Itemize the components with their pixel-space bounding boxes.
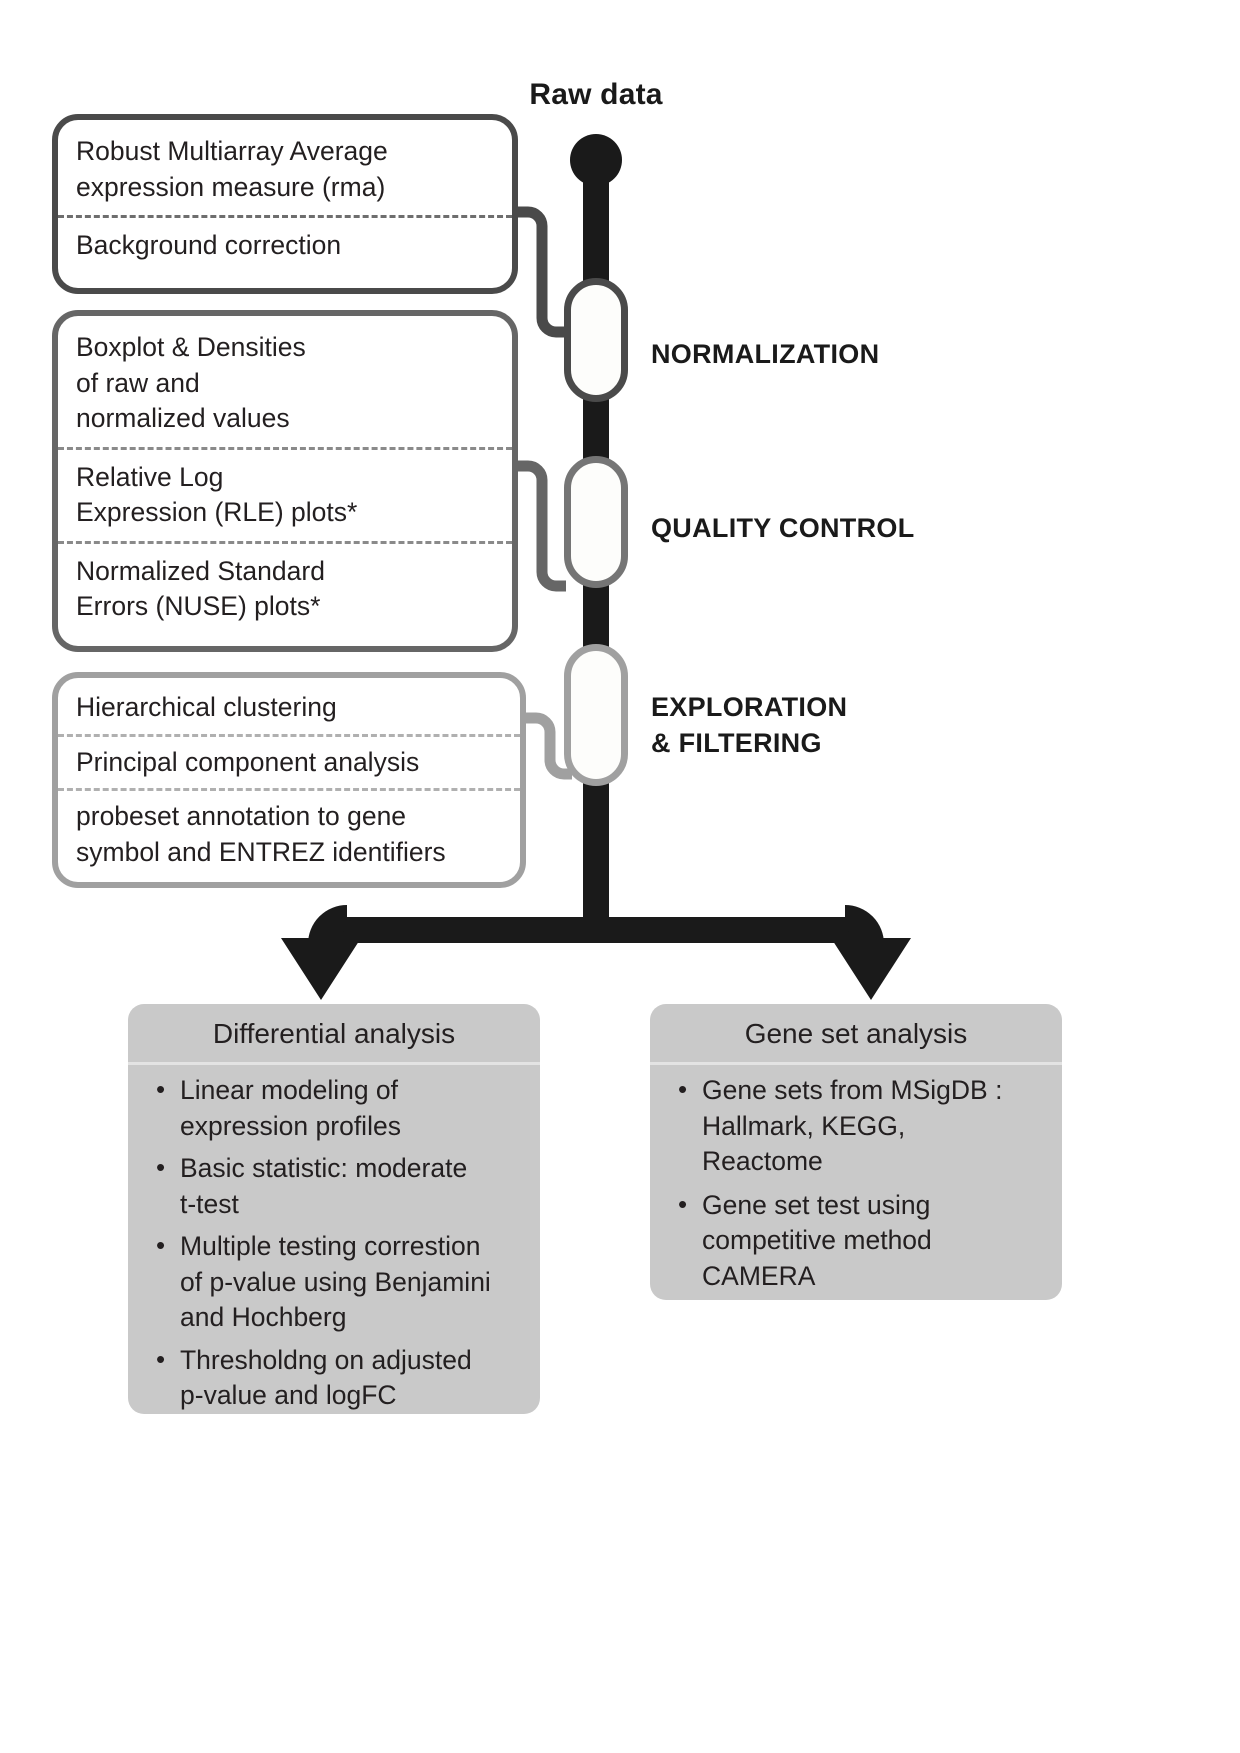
stage-label-normalization: NORMALIZATION <box>651 337 879 373</box>
stage-item-nuse-plots: Normalized Standard Errors (NUSE) plots* <box>58 541 512 635</box>
stage-item-probeset-annotation: probeset annotation to gene symbol and E… <box>58 788 520 878</box>
connector-normalization <box>518 212 566 332</box>
arrow-head-geneset <box>831 938 911 1000</box>
stage-item-rle-plots: Relative Log Expression (RLE) plots* <box>58 447 512 541</box>
stage-item-pca: Principal component analysis <box>58 734 520 789</box>
list-item: Gene sets from MSigDB : Hallmark, KEGG, … <box>702 1073 1044 1180</box>
stage-label-quality-control: QUALITY CONTROL <box>651 511 915 547</box>
stage-item-boxplot-densities: Boxplot & Densities of raw and normalize… <box>58 316 512 447</box>
raw-data-node <box>570 134 622 186</box>
bullet-list-differential: Linear modeling of expression profiles B… <box>150 1073 522 1414</box>
result-box-differential-analysis: Differential analysis Linear modeling of… <box>128 1004 540 1414</box>
result-heading-differential: Differential analysis <box>128 1004 540 1065</box>
list-item: Linear modeling of expression profiles <box>180 1073 522 1144</box>
result-body-differential: Linear modeling of expression profiles B… <box>128 1065 540 1414</box>
list-item: Gene set test using competitive method C… <box>702 1188 1044 1295</box>
spine-node-quality-control <box>564 456 628 588</box>
page-title: Raw data <box>466 78 726 112</box>
list-item: Basic statistic: moderate t-test <box>180 1151 522 1222</box>
stage-box-quality-control: Boxplot & Densities of raw and normalize… <box>52 310 518 652</box>
stage-label-exploration-filtering: EXPLORATION & FILTERING <box>651 690 847 761</box>
result-heading-geneset: Gene set analysis <box>650 1004 1062 1065</box>
workflow-diagram: Raw data Robust Multiarray Average expre… <box>0 0 1240 1753</box>
list-item: Thresholdng on adjusted p-value and logF… <box>180 1343 522 1414</box>
result-box-gene-set-analysis: Gene set analysis Gene sets from MSigDB … <box>650 1004 1062 1300</box>
stage-item-hierarchical-clustering: Hierarchical clustering <box>58 678 520 734</box>
bullet-list-geneset: Gene sets from MSigDB : Hallmark, KEGG, … <box>672 1073 1044 1294</box>
stage-item-rma: Robust Multiarray Average expression mea… <box>58 120 512 215</box>
spine-node-normalization <box>564 278 628 402</box>
stage-box-exploration-filtering: Hierarchical clustering Principal compon… <box>52 672 526 888</box>
list-item: Multiple testing correstion of p-value u… <box>180 1229 522 1336</box>
spine-node-exploration <box>564 644 628 786</box>
result-body-geneset: Gene sets from MSigDB : Hallmark, KEGG, … <box>650 1065 1062 1300</box>
connector-quality <box>518 466 566 586</box>
stage-box-normalization: Robust Multiarray Average expression mea… <box>52 114 518 294</box>
arrow-head-differential <box>281 938 361 1000</box>
stage-item-background-correction: Background correction <box>58 215 512 274</box>
